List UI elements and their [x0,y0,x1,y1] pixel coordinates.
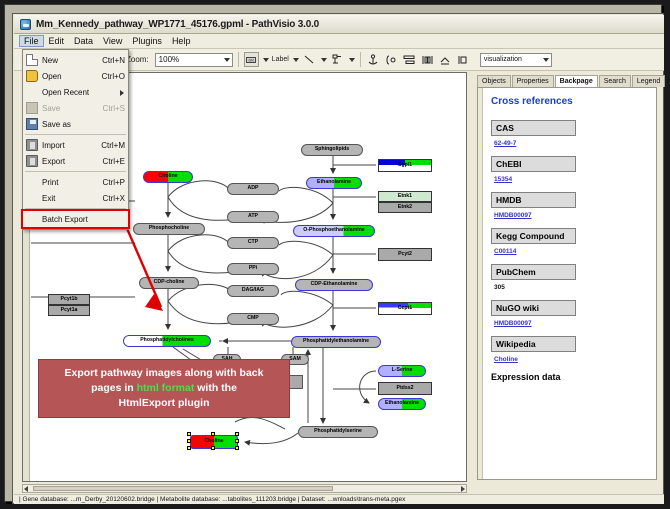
selection-handle[interactable] [235,446,239,450]
node-cdp-ethanolamine[interactable]: CDP-Ethanolamine [295,279,373,291]
save-as-icon [26,118,38,130]
menu-item-open-recent[interactable]: Open Recent [23,84,128,100]
tab-objects[interactable]: Objects [477,75,511,87]
menu-plugins[interactable]: Plugins [127,35,167,47]
selection-handle[interactable] [211,446,215,450]
node-phosphatidylserine[interactable]: Phosphatidylserine [298,426,378,438]
scrollbar-thumb[interactable] [33,486,333,491]
window-outer-frame: Mm_Kennedy_pathway_WP1771_45176.gpml - P… [4,4,662,502]
xref-header-kegg-compound: Kegg Compound [491,228,576,244]
svg-text:GN: GN [249,58,255,62]
node-choline-top[interactable]: Choline [143,171,193,183]
xref-value-chebi[interactable]: 15354 [494,176,650,183]
menu-item-save-as[interactable]: Save as [23,116,128,132]
chevron-down-icon[interactable] [349,58,355,62]
node-phosphatidylethanolamine[interactable]: Phosphatidylethanolamine [291,336,381,348]
node-ethanolamine[interactable]: Ethanolamine [306,177,362,189]
menu-divider [25,134,126,135]
chevron-down-icon[interactable] [321,58,327,62]
selection-handle[interactable] [235,432,239,436]
side-panel: Objects Properties Backpage Search Legen… [471,72,657,482]
gene-cept1[interactable]: Cept1 [378,302,432,315]
node-choline-selected[interactable]: Choline [190,435,238,449]
menu-divider [25,171,126,172]
tab-legend[interactable]: Legend [632,75,665,87]
callout-line3: HtmlExport plugin [119,397,210,409]
import-icon [26,139,38,151]
annotation-callout-text: Export pathway images along with back pa… [59,366,270,412]
gene-ptdss2[interactable]: Ptdss2 [378,382,432,395]
blank-icon [26,213,38,225]
xref-value-wikipedia[interactable]: Choline [494,356,650,363]
chevron-down-icon[interactable] [263,58,269,62]
xref-value-nugo-wiki[interactable]: HMDB00097 [494,320,650,327]
menu-item-exit[interactable]: Exit Ctrl+X [23,190,128,206]
xref-header-chebi: ChEBI [491,156,576,172]
xref-value-kegg-compound[interactable]: C00114 [494,248,650,255]
title-bar: Mm_Kennedy_pathway_WP1771_45176.gpml - P… [14,15,664,34]
xref-header-pubchem: PubChem [491,264,576,280]
selection-handle[interactable] [187,439,191,443]
save-disabled-icon [26,102,38,114]
zoom-combo[interactable]: 100% [155,53,233,67]
node-cmp[interactable]: CMP [227,313,279,325]
selection-handle[interactable] [187,446,191,450]
label-button[interactable]: Label [272,56,289,63]
annotation-callout: Export pathway images along with back pa… [38,359,290,418]
expression-data-title: Expression data [491,372,650,382]
toolbar-divider [238,52,239,67]
scroll-right-icon[interactable] [461,486,465,492]
tab-properties[interactable]: Properties [512,75,554,87]
menu-bar: File Edit Data View Plugins Help [14,34,664,49]
gene-etnk2[interactable]: Etnk2 [378,202,432,213]
visualization-combo[interactable]: visualization [480,53,552,67]
xref-value-hmdb[interactable]: HMDB00097 [494,212,650,219]
gene-pcyt1a[interactable]: Pcyt1a [48,305,90,316]
menu-data[interactable]: Data [69,35,98,47]
distribute-button[interactable] [420,52,435,67]
menu-item-batch-export[interactable]: Batch Export [23,211,128,227]
callout-line2-highlight: html format [137,382,195,394]
interaction-button[interactable] [330,52,345,67]
screenshot-root: Mm_Kennedy_pathway_WP1771_45176.gpml - P… [0,0,670,509]
callout-line2-pre: pages in [91,382,137,394]
xref-header-hmdb: HMDB [491,192,576,208]
menu-item-import[interactable]: Import Ctrl+M [23,137,128,153]
node-l-serine[interactable]: L-Serine [378,365,426,377]
menu-help[interactable]: Help [167,35,196,47]
side-panel-tabs: Objects Properties Backpage Search Legen… [477,72,657,87]
node-ppi[interactable]: PPi [227,263,279,275]
export-icon [26,155,38,167]
anchor-button[interactable] [366,52,381,67]
menu-divider [25,208,126,209]
window-title: Mm_Kennedy_pathway_WP1771_45176.gpml - P… [36,19,319,30]
node-atp[interactable]: ATP [227,211,279,223]
chevron-down-icon [543,58,549,62]
open-folder-icon [26,70,38,82]
node-adp[interactable]: ADP [227,183,279,195]
xref-header-cas: CAS [491,120,576,136]
gene-pcyt1b[interactable]: Pcyt1b [48,294,90,305]
callout-line2-post: with the [194,382,237,394]
node-phosphocholine[interactable]: Phosphocholine [133,223,205,235]
menu-edit[interactable]: Edit [44,35,70,47]
node-cdp-choline[interactable]: CDP-choline [139,277,199,289]
node-ctp[interactable]: CTP [227,237,279,249]
blank-icon [26,176,38,188]
menu-item-open[interactable]: Open Ctrl+O [23,68,128,84]
gene-etnk1[interactable]: Etnk1 [378,191,432,202]
chevron-down-icon[interactable] [293,58,299,62]
node-phosphatidylcholines[interactable]: Phosphatidylcholines [123,335,211,347]
cross-references-title: Cross references [491,96,650,107]
new-document-icon [26,54,38,66]
zoom-value: 100% [159,55,179,64]
backpage-content: Cross references CAS 62-49-7 ChEBI 15354… [477,87,657,480]
status-bar: | Gene database: ...m_Derby_20120602.bri… [14,494,664,504]
stack-button[interactable] [438,52,453,67]
selection-handle[interactable] [211,432,215,436]
visualization-value: visualization [484,56,522,63]
xref-value-pubchem: 305 [494,284,650,291]
menu-item-print[interactable]: Print Ctrl+P [23,174,128,190]
zoom-label: Zoom: [126,55,149,64]
xref-value-cas[interactable]: 62-49-7 [494,140,650,147]
menu-item-export[interactable]: Export Ctrl+E [23,153,128,169]
align-button[interactable] [402,52,417,67]
order-button[interactable] [456,52,471,67]
scroll-left-icon[interactable] [24,486,28,492]
gene-sgpl1[interactable]: Sgpl1 [378,159,432,172]
datanode-button[interactable]: GN [244,52,259,67]
menu-file[interactable]: File [19,35,44,47]
xref-header-nugo-wiki: NuGO wiki [491,300,576,316]
selection-handle[interactable] [187,432,191,436]
node-sphingolipids[interactable]: Sphingolipids [301,144,363,156]
xref-header-wikipedia: Wikipedia [491,336,576,352]
gene-pcyt2[interactable]: Pcyt2 [378,248,432,261]
pathvisio-window: Mm_Kennedy_pathway_WP1771_45176.gpml - P… [12,13,664,504]
toolbar-divider [360,52,361,67]
group-button[interactable] [384,52,399,67]
blank-icon [26,192,38,204]
canvas-horizontal-scrollbar[interactable] [22,484,467,493]
callout-line1: Export pathway images along with back [65,367,264,379]
node-ethanolamine-lower[interactable]: Ethanolamine [378,398,426,410]
node-o-phosphoethanolamine[interactable]: O-Phosphoethanolamine [293,225,375,237]
menu-view[interactable]: View [98,35,127,47]
menu-item-new[interactable]: New Ctrl+N [23,52,128,68]
line-button[interactable] [302,52,317,67]
blank-icon [26,86,38,98]
tab-search[interactable]: Search [599,75,631,87]
selection-handle[interactable] [235,439,239,443]
status-bar-text: | Gene database: ...m_Derby_20120602.bri… [19,496,405,503]
pathvisio-app-icon [20,19,31,30]
menu-item-save: Save Ctrl+S [23,100,128,116]
side-panel-gutter [478,88,483,479]
chevron-right-icon [120,90,124,96]
file-menu-dropdown[interactable]: New Ctrl+N Open Ctrl+O Open Recent Save … [22,49,129,230]
chevron-down-icon [224,58,230,62]
node-dag[interactable]: DAG/IAG [227,285,279,297]
